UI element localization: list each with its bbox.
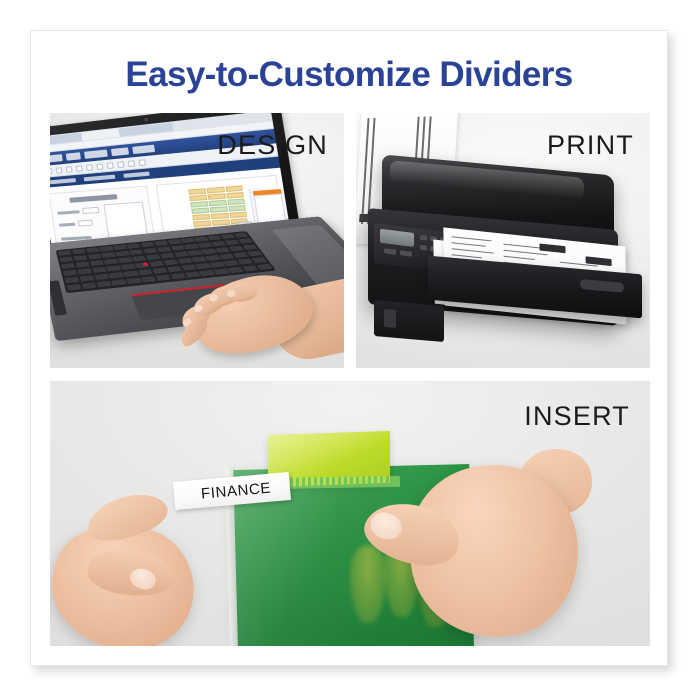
printer-display	[380, 229, 414, 247]
hand-icon	[171, 262, 343, 368]
panel-insert: FINANCE INSERT	[50, 381, 650, 646]
panel-label-print: PRINT	[547, 130, 634, 161]
hand-icon-right	[368, 421, 598, 646]
product-feature-card: Easy-to-Customize Dividers	[30, 30, 668, 666]
panel-print: PRINT	[356, 113, 650, 368]
page-root: Easy-to-Customize Dividers	[0, 0, 700, 700]
template-grid	[189, 185, 248, 218]
tray-handle[interactable]	[580, 279, 624, 293]
printer-indicator	[384, 309, 396, 328]
panel-design: DESIGN	[50, 113, 344, 368]
page-title: Easy-to-Customize Dividers	[31, 55, 667, 95]
webcam-icon	[144, 118, 148, 121]
panel-label-design: DESIGN	[217, 130, 328, 161]
printer-base	[374, 300, 444, 342]
panel-label-insert: INSERT	[524, 401, 630, 432]
hand-icon-left	[50, 459, 232, 646]
